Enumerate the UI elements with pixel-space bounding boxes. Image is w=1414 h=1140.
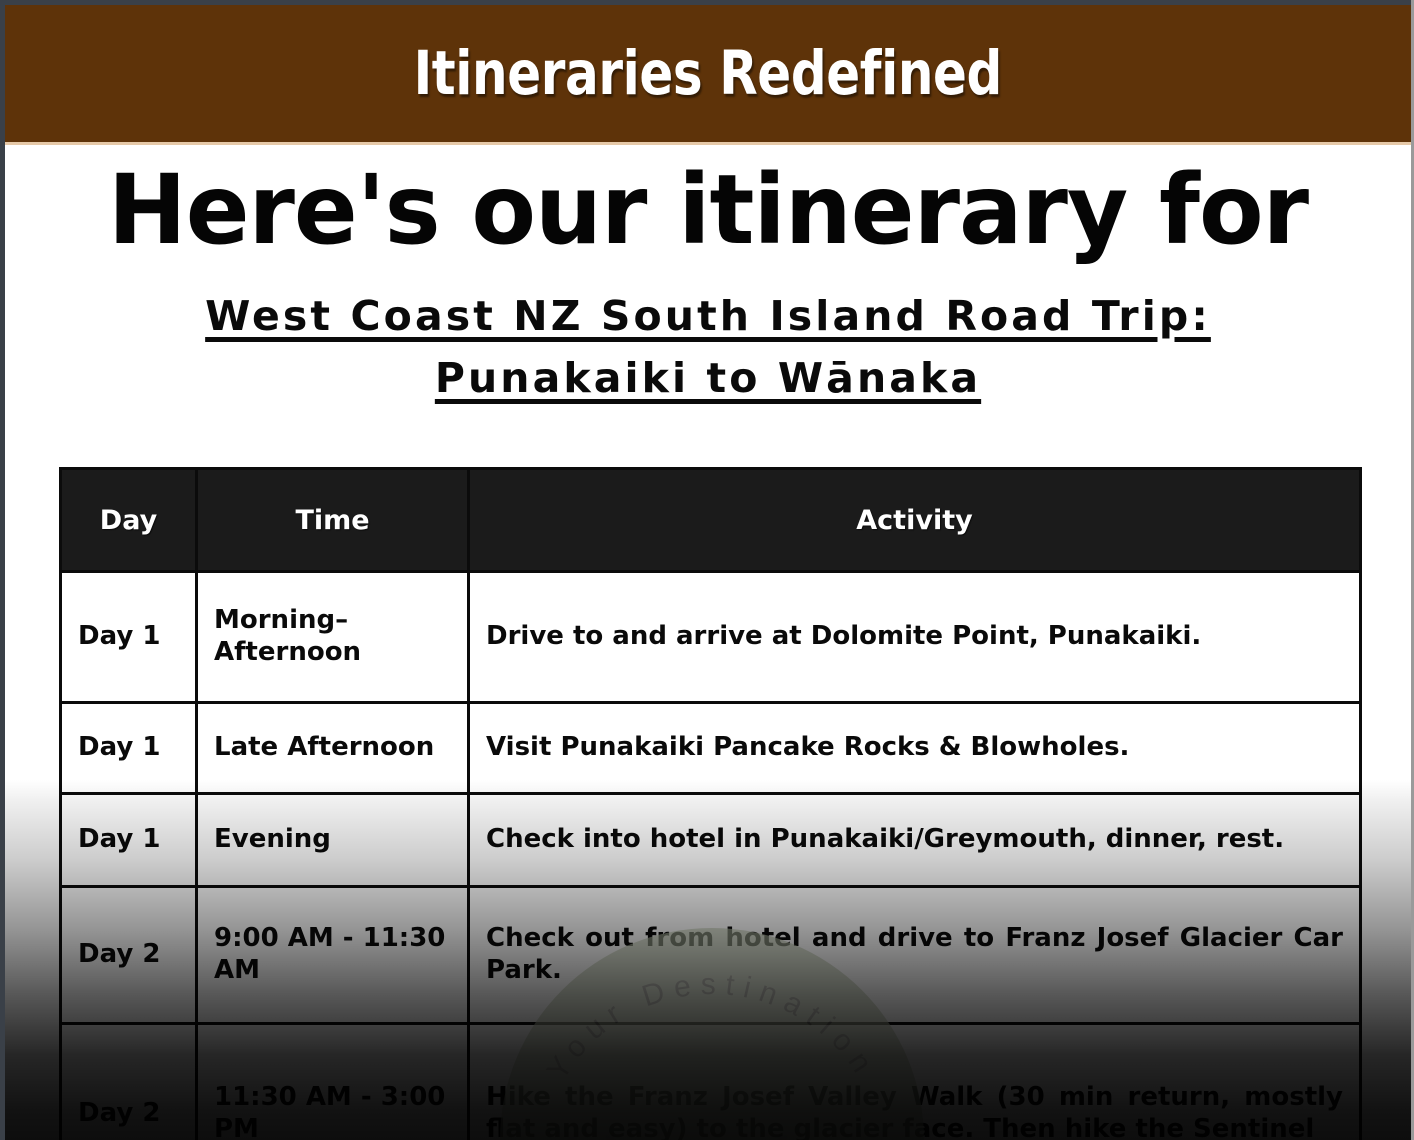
table-row: Day 1 Morning–Afternoon Drive to and arr… bbox=[61, 572, 1361, 703]
document-page: Itineraries Redefined Here's our itinera… bbox=[0, 0, 1414, 1140]
page-subtitle: West Coast NZ South Island Road Trip: Pu… bbox=[43, 285, 1373, 410]
column-header-activity: Activity bbox=[469, 469, 1361, 572]
cell-activity: Drive to and arrive at Dolomite Point, P… bbox=[469, 572, 1361, 703]
table-row: Day 1 Late Afternoon Visit Punakaiki Pan… bbox=[61, 703, 1361, 794]
subtitle-line-2: Punakaiki to Wānaka bbox=[435, 354, 981, 402]
cell-time: 11:30 AM - 3:00 PM bbox=[197, 1024, 469, 1140]
table-row: Day 2 9:00 AM - 11:30 AM Check out from … bbox=[61, 887, 1361, 1024]
page-banner: Itineraries Redefined bbox=[5, 5, 1411, 142]
cell-time: Evening bbox=[197, 794, 469, 887]
window-edge-top bbox=[0, 0, 1414, 5]
itinerary-table: Day Time Activity Day 1 Morning–Afternoo… bbox=[59, 467, 1362, 1140]
document-body: Here's our itinerary for West Coast NZ S… bbox=[5, 145, 1411, 1140]
cell-time: 9:00 AM - 11:30 AM bbox=[197, 887, 469, 1024]
cell-activity: Visit Punakaiki Pancake Rocks & Blowhole… bbox=[469, 703, 1361, 794]
cell-day: Day 1 bbox=[61, 703, 197, 794]
table-header-row: Day Time Activity bbox=[61, 469, 1361, 572]
itinerary-table-wrapper: Day Time Activity Day 1 Morning–Afternoo… bbox=[59, 467, 1359, 1140]
page-headline: Here's our itinerary for bbox=[19, 145, 1397, 263]
cell-activity: Check out from hotel and drive to Franz … bbox=[469, 887, 1361, 1024]
table-row: Day 1 Evening Check into hotel in Punaka… bbox=[61, 794, 1361, 887]
column-header-day: Day bbox=[61, 469, 197, 572]
window-edge-left bbox=[0, 0, 5, 1140]
cell-time: Late Afternoon bbox=[197, 703, 469, 794]
cell-activity: Hike the Franz Josef Valley Walk (30 min… bbox=[469, 1024, 1361, 1140]
cell-time: Morning–Afternoon bbox=[197, 572, 469, 703]
table-row: Day 2 11:30 AM - 3:00 PM Hike the Franz … bbox=[61, 1024, 1361, 1140]
cell-day: Day 1 bbox=[61, 794, 197, 887]
column-header-time: Time bbox=[197, 469, 469, 572]
subtitle-line-1: West Coast NZ South Island Road Trip: bbox=[205, 292, 1211, 340]
cell-activity: Check into hotel in Punakaiki/Greymouth,… bbox=[469, 794, 1361, 887]
cell-day: Day 1 bbox=[61, 572, 197, 703]
banner-title: Itineraries Redefined bbox=[414, 38, 1002, 109]
cell-day: Day 2 bbox=[61, 887, 197, 1024]
cell-day: Day 2 bbox=[61, 1024, 197, 1140]
